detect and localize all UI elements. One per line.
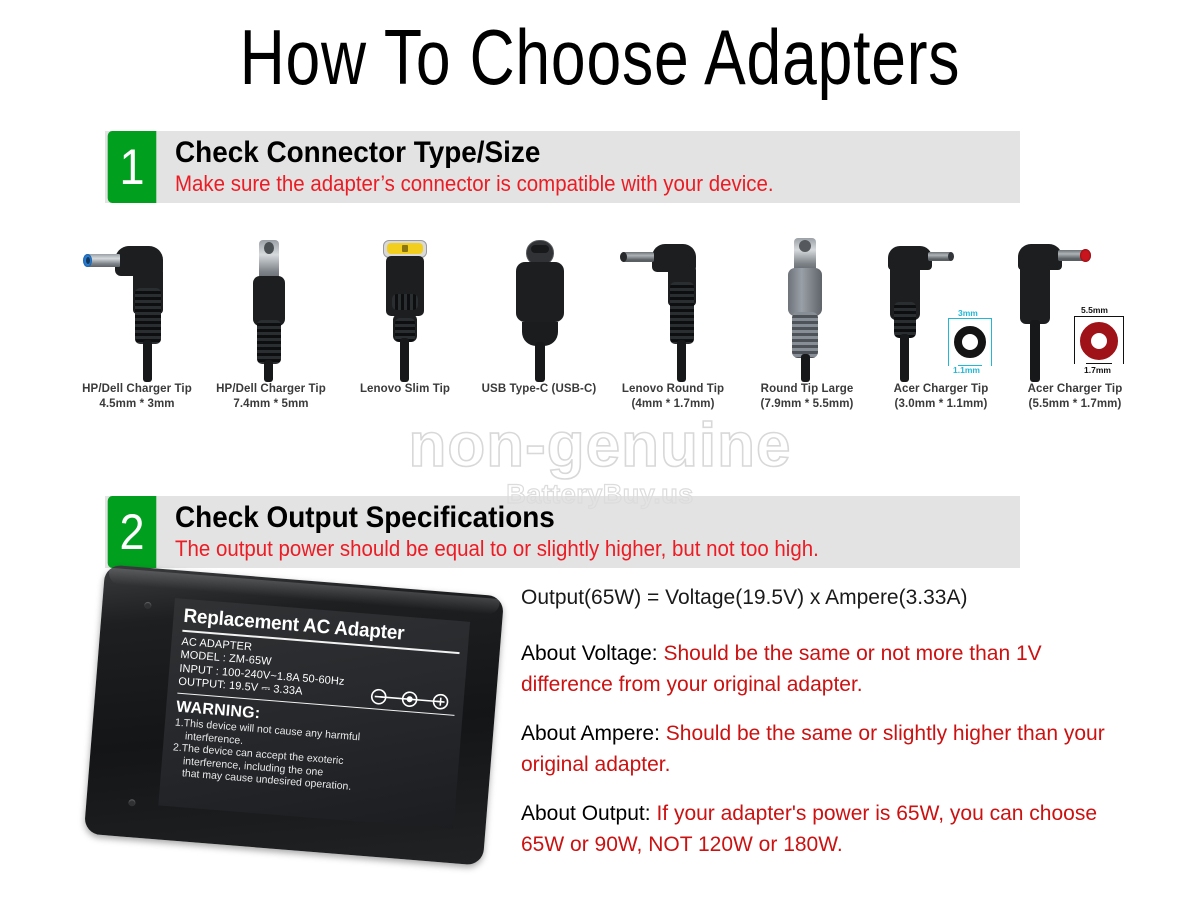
connector-size: 4.5mm * 3mm xyxy=(82,397,192,412)
step-2-header: 2 Check Output Specifications The output… xyxy=(105,496,1020,568)
connector-label: Acer Charger Tip (5.5mm * 1.7mm) xyxy=(1028,382,1123,412)
about-ampere-paragraph: About Ampere: Should be the same or slig… xyxy=(521,718,1121,780)
connector-name: HP/Dell Charger Tip xyxy=(216,383,326,395)
acer-3-0mm-icon: 3mm 1.1mm xyxy=(874,232,1008,382)
lenovo-round-tip-icon xyxy=(606,232,740,382)
screw-dot xyxy=(144,602,152,610)
about-output-label: About Output: xyxy=(521,802,656,825)
connector-name: Acer Charger Tip xyxy=(894,383,989,395)
screw-dot xyxy=(128,799,136,807)
acer-5-5mm-icon: 5.5mm 1.7mm xyxy=(1008,232,1142,382)
step-1-title: Check Connector Type/Size xyxy=(175,136,961,169)
connector-label: HP/Dell Charger Tip 7.4mm * 5mm xyxy=(216,382,326,412)
lenovo-slim-tip-icon xyxy=(338,232,472,382)
step-2-number-badge: 2 xyxy=(108,496,157,568)
connector-label: Lenovo Slim Tip xyxy=(360,382,450,397)
ring-outer-dimension: 3mm xyxy=(958,308,978,318)
connector-name: USB Type-C (USB-C) xyxy=(482,383,597,395)
ring-outer-dimension: 5.5mm xyxy=(1081,305,1108,315)
hp-dell-7-4mm-icon xyxy=(204,232,338,382)
connector-label: USB Type-C (USB-C) xyxy=(482,382,597,397)
ring-inner-dimension: 1.7mm xyxy=(1084,365,1111,375)
connector-name: Acer Charger Tip xyxy=(1028,383,1123,395)
connector-size: (3.0mm * 1.1mm) xyxy=(894,397,989,412)
about-voltage-paragraph: About Voltage: Should be the same or not… xyxy=(521,638,1121,700)
step-1-subtitle: Make sure the adapter’s connector is com… xyxy=(175,169,961,199)
step-1-number-badge: 1 xyxy=(108,131,157,203)
connector-item-acer-3-0mm[interactable]: 3mm 1.1mm Acer Charger Tip (3.0mm * 1.1m… xyxy=(874,232,1008,437)
connector-size: (5.5mm * 1.7mm) xyxy=(1028,397,1123,412)
connector-size: (4mm * 1.7mm) xyxy=(622,397,724,412)
about-ampere-label: About Ampere: xyxy=(521,722,666,745)
connector-label: Lenovo Round Tip (4mm * 1.7mm) xyxy=(622,382,724,412)
about-output-paragraph: About Output: If your adapter's power is… xyxy=(521,798,1121,860)
connector-label: HP/Dell Charger Tip 4.5mm * 3mm xyxy=(82,382,192,412)
page-title: How To Choose Adapters xyxy=(120,14,1080,100)
connector-item-hp-dell-7-4mm[interactable]: HP/Dell Charger Tip 7.4mm * 5mm xyxy=(204,232,338,437)
about-voltage-label: About Voltage: xyxy=(521,642,663,665)
connector-item-lenovo-round[interactable]: Lenovo Round Tip (4mm * 1.7mm) xyxy=(606,232,740,437)
connector-size: (7.9mm * 5.5mm) xyxy=(761,397,854,412)
acer-3-0mm-ring-diagram: 3mm 1.1mm xyxy=(940,310,1002,376)
adapter-brick: Replacement AC Adapter AC ADAPTER MODEL … xyxy=(84,564,504,865)
connector-item-usb-c[interactable]: USB Type-C (USB-C) xyxy=(472,232,606,437)
acer-5-5mm-ring-diagram: 5.5mm 1.7mm xyxy=(1064,304,1136,378)
step-1-header: 1 Check Connector Type/Size Make sure th… xyxy=(105,131,1020,203)
ring-inner-dimension: 1.1mm xyxy=(953,365,980,375)
infographic-page: How To Choose Adapters 1 Check Connector… xyxy=(0,0,1200,900)
step-2-title: Check Output Specifications xyxy=(175,501,961,534)
adapter-label-panel: Replacement AC Adapter AC ADAPTER MODEL … xyxy=(158,598,470,829)
connector-name: Lenovo Slim Tip xyxy=(360,383,450,395)
output-formula: Output(65W) = Voltage(19.5V) x Ampere(3.… xyxy=(521,584,1121,612)
step-2-text-group: Check Output Specifications The output p… xyxy=(159,496,1020,568)
connector-gallery: HP/Dell Charger Tip 4.5mm * 3mm HP/Dell … xyxy=(70,232,1145,437)
connector-name: Lenovo Round Tip xyxy=(622,383,724,395)
connector-label: Acer Charger Tip (3.0mm * 1.1mm) xyxy=(894,382,989,412)
round-tip-large-icon xyxy=(740,232,874,382)
connector-size: 7.4mm * 5mm xyxy=(216,397,326,412)
connector-item-lenovo-slim[interactable]: Lenovo Slim Tip xyxy=(338,232,472,437)
output-spec-text: Output(65W) = Voltage(19.5V) x Ampere(3.… xyxy=(521,584,1121,878)
connector-item-acer-5-5mm[interactable]: 5.5mm 1.7mm Acer Charger Tip (5.5mm * 1.… xyxy=(1008,232,1142,437)
connector-label: Round Tip Large (7.9mm * 5.5mm) xyxy=(761,382,854,412)
connector-name: Round Tip Large xyxy=(761,383,854,395)
usb-type-c-icon xyxy=(472,232,606,382)
hp-dell-4-5mm-icon xyxy=(70,232,204,382)
step-2-subtitle: The output power should be equal to or s… xyxy=(175,534,961,564)
connector-item-round-large[interactable]: Round Tip Large (7.9mm * 5.5mm) xyxy=(740,232,874,437)
connector-item-hp-dell-4-5mm[interactable]: HP/Dell Charger Tip 4.5mm * 3mm xyxy=(70,232,204,437)
adapter-photo: Replacement AC Adapter AC ADAPTER MODEL … xyxy=(88,570,508,895)
connector-name: HP/Dell Charger Tip xyxy=(82,383,192,395)
step-1-text-group: Check Connector Type/Size Make sure the … xyxy=(159,131,1020,203)
adapter-spec-block: AC ADAPTER MODEL : ZM-65W INPUT : 100-24… xyxy=(178,635,459,711)
